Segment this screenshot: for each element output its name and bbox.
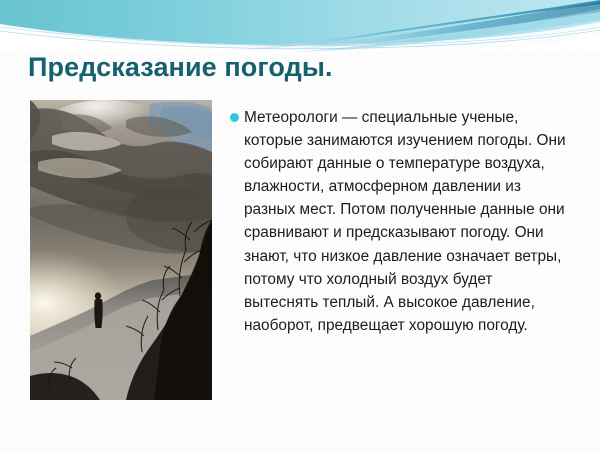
header-wave-banner xyxy=(0,0,600,52)
content-bullet-block: Метеорологи — специальные ученые, которы… xyxy=(230,106,570,337)
bullet-dot-icon xyxy=(230,113,239,122)
weather-photo xyxy=(30,100,212,400)
slide-canvas: Предсказание погоды. xyxy=(0,0,600,450)
slide-title: Предсказание погоды. xyxy=(28,50,333,84)
body-paragraph: Метеорологи — специальные ученые, которы… xyxy=(244,106,570,337)
